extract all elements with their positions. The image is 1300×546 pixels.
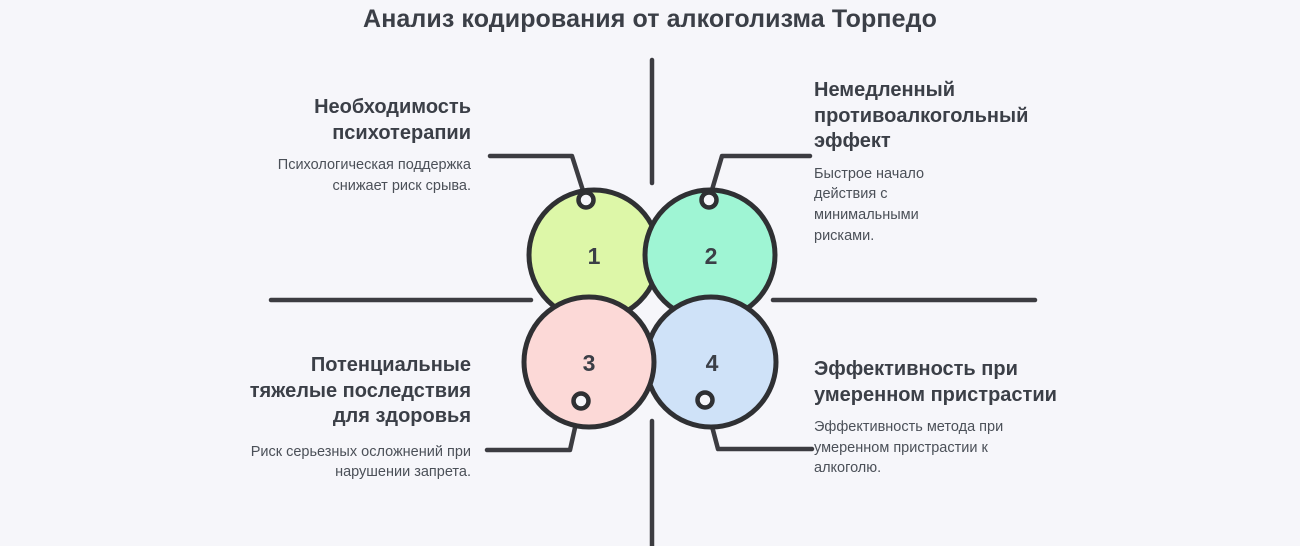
infographic-root: Анализ кодирования от алкоголизма Торпед… xyxy=(0,0,1300,546)
quadrant-heading-4: Эффективность при умеренном пристрастии xyxy=(814,357,1064,408)
connector-node-3[interactable] xyxy=(574,394,589,409)
quadrant-block-bottom-left: Потенциальные тяжелые последствия для зд… xyxy=(223,353,471,483)
quadrant-heading-3: Потенциальные тяжелые последствия для зд… xyxy=(223,353,471,430)
quadrant-block-top-right: Немедленный противоалкогольный эффект Бы… xyxy=(814,78,1074,246)
venn-circle-label-1: 1 xyxy=(579,243,609,270)
quadrant-body-2: Быстрое начало действия с минимальными р… xyxy=(814,164,979,246)
connector-node-4[interactable] xyxy=(698,393,713,408)
connector-node-1[interactable] xyxy=(579,193,594,208)
quadrant-body-3: Риск серьезных осложнений при нарушении … xyxy=(223,442,471,483)
venn-circle-label-4: 4 xyxy=(697,350,727,377)
connector-node-2[interactable] xyxy=(702,193,717,208)
quadrant-heading-1: Необходимость психотерапии xyxy=(223,95,471,146)
venn-circle-label-2: 2 xyxy=(696,243,726,270)
quadrant-body-4: Эффективность метода при умеренном прист… xyxy=(814,417,1014,479)
quadrant-heading-2: Немедленный противоалкогольный эффект xyxy=(814,78,1074,155)
venn-diagram-graphic xyxy=(0,0,1300,546)
quadrant-block-top-left: Необходимость психотерапии Психологическ… xyxy=(223,95,471,196)
quadrant-body-1: Психологическая поддержка снижает риск с… xyxy=(223,155,471,196)
venn-circle-label-3: 3 xyxy=(574,350,604,377)
quadrant-block-bottom-right: Эффективность при умеренном пристрастии … xyxy=(814,357,1064,479)
